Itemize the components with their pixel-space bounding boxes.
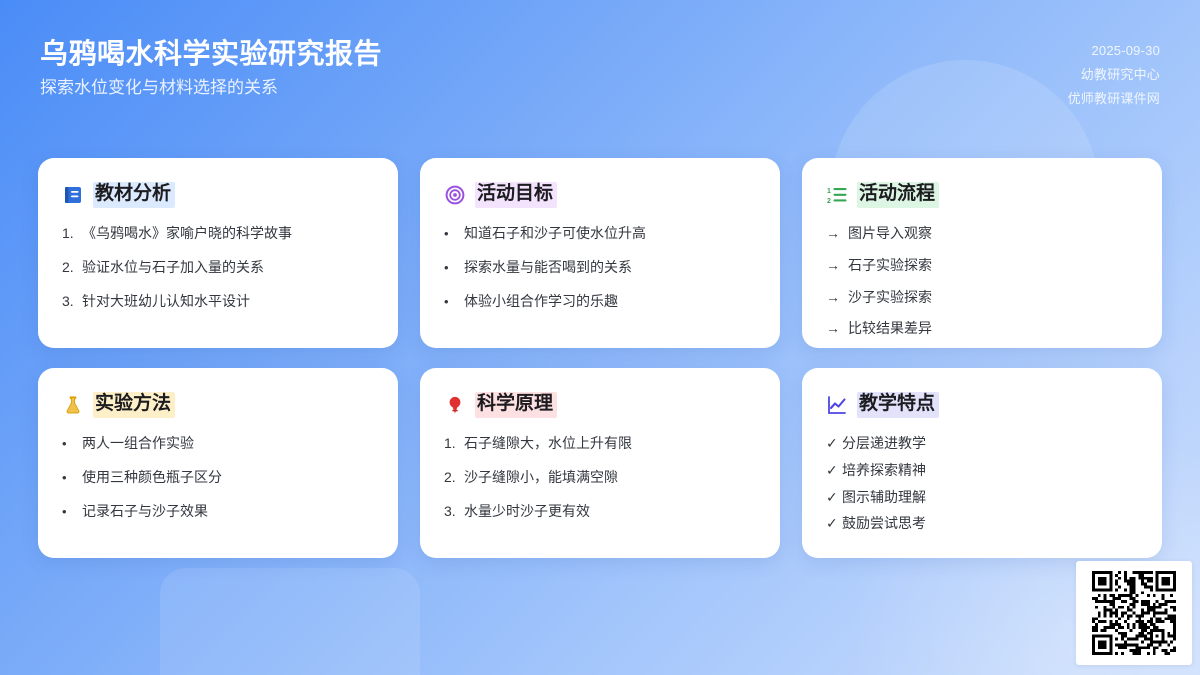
list-item: ✓ 鼓励尝试思考: [826, 514, 1138, 533]
card-list: • 两人一组合作实验 • 使用三种颜色瓶子区分 • 记录石子与沙子效果: [62, 434, 374, 521]
list-item-text: 验证水位与石子加入量的关系: [82, 258, 374, 277]
list-marker: •: [444, 293, 464, 311]
list-marker: 2.: [62, 258, 82, 277]
list-marker: ✓: [826, 434, 842, 453]
red-pin-icon: [444, 394, 466, 416]
card-title: 活动目标: [475, 182, 557, 208]
header-text-block: 乌鸦喝水科学实验研究报告 探索水位变化与材料选择的关系: [40, 38, 382, 99]
card-list: → 图片导入观察 → 石子实验探索 → 沙子实验探索 → 比较结果差异: [826, 224, 1138, 339]
card-title: 科学原理: [475, 392, 557, 418]
list-marker: 1.: [444, 434, 464, 453]
list-item: → 比较结果差异: [826, 319, 1138, 338]
list-item: ✓ 培养探索精神: [826, 461, 1138, 480]
blue-book-icon: [62, 184, 84, 206]
website-name: 优师教研课件网: [1068, 90, 1160, 109]
card-list: 1. 石子缝隙大，水位上升有限 2. 沙子缝隙小，能填满空隙 3. 水量少时沙子…: [444, 434, 756, 521]
list-item-text: 石子缝隙大，水位上升有限: [464, 434, 756, 453]
list-item: → 沙子实验探索: [826, 288, 1138, 307]
cards-grid: 教材分析 1. 《乌鸦喝水》家喻户晓的科学故事 2. 验证水位与石子加入量的关系…: [38, 158, 1162, 558]
list-item-text: 针对大班幼儿认知水平设计: [82, 292, 374, 311]
list-marker: ✓: [826, 488, 842, 507]
card-science-principle[interactable]: 科学原理 1. 石子缝隙大，水位上升有限 2. 沙子缝隙小，能填满空隙 3. 水…: [420, 368, 780, 558]
list-item: 1. 石子缝隙大，水位上升有限: [444, 434, 756, 453]
list-item-text: 图片导入观察: [848, 224, 1138, 243]
list-item: • 体验小组合作学习的乐趣: [444, 292, 756, 311]
card-header: 教学特点: [826, 392, 1138, 418]
report-date: 2025-09-30: [1092, 42, 1161, 61]
list-item: • 使用三种颜色瓶子区分: [62, 468, 374, 487]
list-marker: →: [826, 319, 848, 338]
card-title: 实验方法: [93, 392, 175, 418]
card-header: 活动目标: [444, 182, 756, 208]
list-item: • 记录石子与沙子效果: [62, 502, 374, 521]
card-teaching-material-analysis[interactable]: 教材分析 1. 《乌鸦喝水》家喻户晓的科学故事 2. 验证水位与石子加入量的关系…: [38, 158, 398, 348]
flask-icon: [62, 394, 84, 416]
list-item-text: 《乌鸦喝水》家喻户晓的科学故事: [82, 224, 374, 243]
card-header: 实验方法: [62, 392, 374, 418]
list-item: • 探索水量与能否喝到的关系: [444, 258, 756, 277]
target-icon: [444, 184, 466, 206]
list-marker: •: [62, 503, 82, 521]
list-item-text: 分层递进教学: [842, 434, 1138, 453]
svg-text:2: 2: [827, 198, 831, 205]
list-item: 3. 针对大班幼儿认知水平设计: [62, 292, 374, 311]
list-marker: •: [444, 225, 464, 243]
list-marker: •: [444, 259, 464, 277]
header-meta-block: 2025-09-30 幼教研究中心 优师教研课件网: [1068, 38, 1160, 109]
list-marker: →: [826, 256, 848, 275]
list-item: → 石子实验探索: [826, 256, 1138, 275]
list-item: • 知道石子和沙子可使水位升高: [444, 224, 756, 243]
card-list: 1. 《乌鸦喝水》家喻户晓的科学故事 2. 验证水位与石子加入量的关系 3. 针…: [62, 224, 374, 311]
list-marker: 1.: [62, 224, 82, 243]
list-marker: •: [62, 435, 82, 453]
list-item: 2. 验证水位与石子加入量的关系: [62, 258, 374, 277]
slide-root: 乌鸦喝水科学实验研究报告 探索水位变化与材料选择的关系 2025-09-30 幼…: [0, 0, 1200, 675]
list-item: ✓ 分层递进教学: [826, 434, 1138, 453]
card-list: ✓ 分层递进教学 ✓ 培养探索精神 ✓ 图示辅助理解 ✓ 鼓励尝试思考: [826, 434, 1138, 534]
list-item-text: 鼓励尝试思考: [842, 514, 1138, 533]
list-item-text: 沙子缝隙小，能填满空隙: [464, 468, 756, 487]
list-item-text: 石子实验探索: [848, 256, 1138, 275]
list-item: ✓ 图示辅助理解: [826, 488, 1138, 507]
card-experiment-method[interactable]: 实验方法 • 两人一组合作实验 • 使用三种颜色瓶子区分 • 记录石子与沙子效果: [38, 368, 398, 558]
list-item-text: 知道石子和沙子可使水位升高: [464, 224, 756, 243]
card-title: 活动流程: [857, 182, 939, 208]
card-header: 科学原理: [444, 392, 756, 418]
list-item-text: 记录石子与沙子效果: [82, 502, 374, 521]
list-item-text: 体验小组合作学习的乐趣: [464, 292, 756, 311]
list-marker: 2.: [444, 468, 464, 487]
organization-name: 幼教研究中心: [1081, 66, 1160, 85]
list-item-text: 沙子实验探索: [848, 288, 1138, 307]
list-item-text: 探索水量与能否喝到的关系: [464, 258, 756, 277]
card-title: 教材分析: [93, 182, 175, 208]
list-item-text: 比较结果差异: [848, 319, 1138, 338]
list-marker: →: [826, 288, 848, 307]
list-item-text: 使用三种颜色瓶子区分: [82, 468, 374, 487]
card-title: 教学特点: [857, 392, 939, 418]
card-header: 1 2 活动流程: [826, 182, 1138, 208]
list-item-text: 两人一组合作实验: [82, 434, 374, 453]
list-item-text: 图示辅助理解: [842, 488, 1138, 507]
list-item: 1. 《乌鸦喝水》家喻户晓的科学故事: [62, 224, 374, 243]
qr-code: [1092, 571, 1176, 655]
svg-text:1: 1: [827, 188, 831, 195]
list-marker: ✓: [826, 514, 842, 533]
decorative-rounded-rect: [160, 568, 420, 675]
list-item: → 图片导入观察: [826, 224, 1138, 243]
page-title: 乌鸦喝水科学实验研究报告: [40, 38, 382, 70]
qr-code-container[interactable]: [1076, 561, 1192, 665]
line-chart-icon: [826, 394, 848, 416]
card-teaching-features[interactable]: 教学特点 ✓ 分层递进教学 ✓ 培养探索精神 ✓ 图示辅助理解 ✓ 鼓励尝试思考: [802, 368, 1162, 558]
card-header: 教材分析: [62, 182, 374, 208]
list-item-text: 水量少时沙子更有效: [464, 502, 756, 521]
list-item: • 两人一组合作实验: [62, 434, 374, 453]
page-subtitle: 探索水位变化与材料选择的关系: [40, 78, 382, 98]
slide-header: 乌鸦喝水科学实验研究报告 探索水位变化与材料选择的关系 2025-09-30 幼…: [0, 0, 1200, 140]
card-list: • 知道石子和沙子可使水位升高 • 探索水量与能否喝到的关系 • 体验小组合作学…: [444, 224, 756, 311]
list-item-text: 培养探索精神: [842, 461, 1138, 480]
list-marker: 3.: [62, 292, 82, 311]
list-marker: 3.: [444, 502, 464, 521]
list-marker: →: [826, 224, 848, 243]
card-activity-goals[interactable]: 活动目标 • 知道石子和沙子可使水位升高 • 探索水量与能否喝到的关系 • 体验…: [420, 158, 780, 348]
list-item: 3. 水量少时沙子更有效: [444, 502, 756, 521]
list-marker: ✓: [826, 461, 842, 480]
list-item: 2. 沙子缝隙小，能填满空隙: [444, 468, 756, 487]
numbered-list-icon: 1 2: [826, 184, 848, 206]
card-activity-flow[interactable]: 1 2 活动流程 → 图片导入观察 → 石子实验探索: [802, 158, 1162, 348]
list-marker: •: [62, 469, 82, 487]
